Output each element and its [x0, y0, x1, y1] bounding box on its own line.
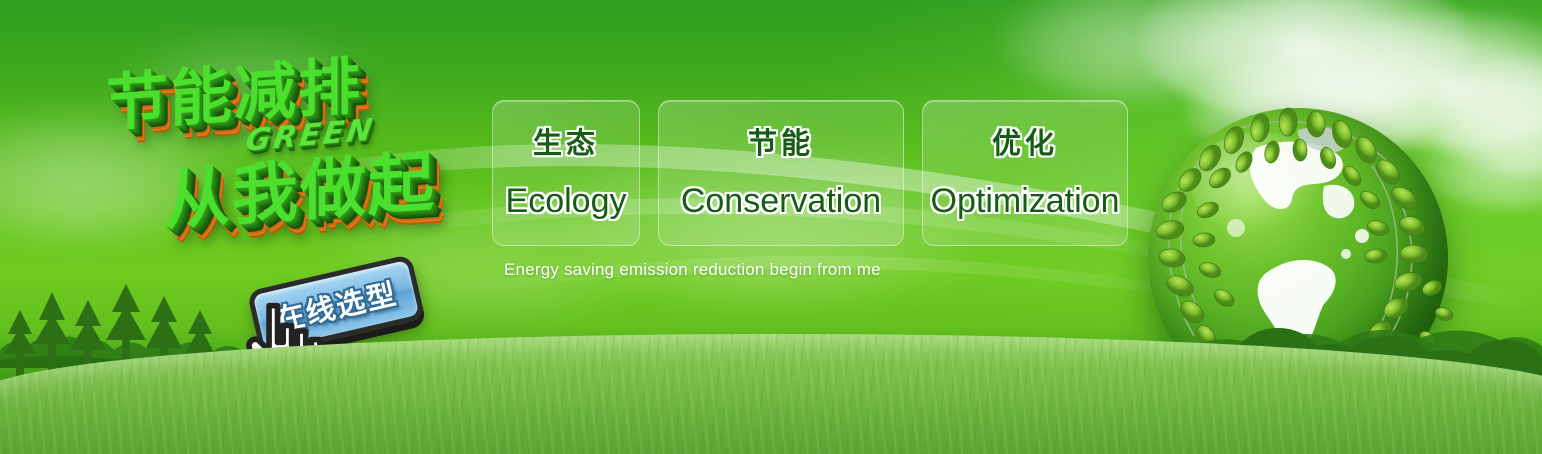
- title-line-2: 从我做起: [164, 128, 436, 243]
- title-accent-word: GREEN: [244, 112, 378, 159]
- banner-tagline: Energy saving emission reduction begin f…: [504, 260, 881, 280]
- globe-ground-shadow: [1172, 388, 1430, 422]
- feature-card-ecology[interactable]: 生态 Ecology: [492, 100, 640, 246]
- title-line-1: 节能减排: [106, 35, 362, 143]
- green-energy-banner: 节能减排 GREEN 从我做起 在线选型 生态 Ecology 节能 Conse…: [0, 0, 1542, 454]
- globe-highlight: [1190, 132, 1328, 234]
- card-title-en: Ecology: [506, 184, 627, 218]
- card-title-en: Conservation: [681, 184, 881, 218]
- feature-card-conservation[interactable]: 节能 Conservation: [658, 100, 904, 246]
- feature-card-optimization[interactable]: 优化 Optimization: [922, 100, 1128, 246]
- card-title-cn: 优化: [992, 129, 1058, 158]
- cloud-icon: [120, 30, 380, 150]
- online-selection-button[interactable]: 在线选型: [247, 254, 426, 356]
- card-title-cn: 节能: [748, 129, 814, 158]
- globe-sphere: [1148, 108, 1448, 408]
- cloud-icon: [1000, 0, 1260, 100]
- cloud-icon: [0, 110, 230, 240]
- feature-cards: 生态 Ecology 节能 Conservation 优化 Optimizati…: [492, 100, 1128, 246]
- hero-title-artwork: 节能减排 GREEN 从我做起: [96, 34, 496, 274]
- card-title-en: Optimization: [931, 184, 1120, 218]
- card-title-cn: 生态: [533, 129, 599, 158]
- eco-globe: [1148, 108, 1448, 408]
- cloud-icon: [1140, 0, 1470, 120]
- button-label: 在线选型: [247, 254, 426, 356]
